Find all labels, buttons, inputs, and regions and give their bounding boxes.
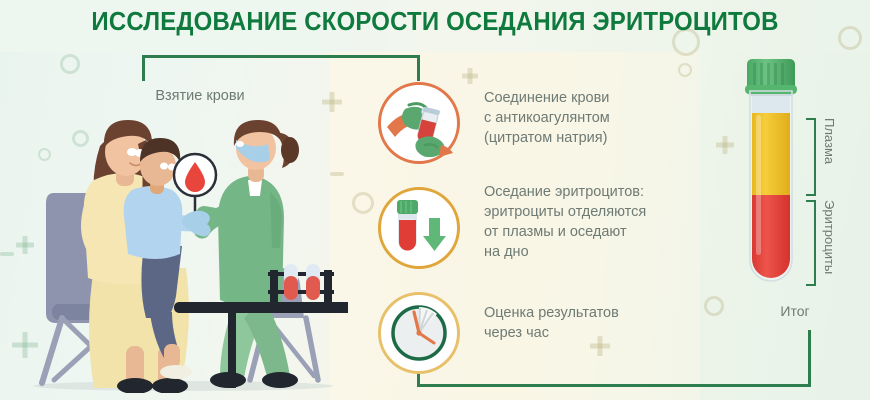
page-title: ИССЛЕДОВАНИЕ СКОРОСТИ ОСЕДАНИЯ ЭРИТРОЦИТ… bbox=[26, 8, 844, 37]
step-1-line-1: Соединение крови bbox=[484, 88, 674, 108]
plasma-label: Плазма bbox=[822, 118, 837, 198]
erythrocyte-label: Эритроциты bbox=[822, 200, 837, 288]
hands-with-test-tube-icon bbox=[385, 89, 453, 157]
step-2-line-4: на дно bbox=[484, 242, 684, 262]
result-test-tube bbox=[740, 55, 802, 295]
step-2-line-1: Оседание эритроцитов: bbox=[484, 182, 684, 202]
result-total-label: Итог bbox=[740, 303, 850, 319]
connector-top-horizontal bbox=[142, 55, 420, 58]
connector-bottom-horizontal bbox=[417, 384, 811, 387]
connector-bottom-right-rise bbox=[808, 330, 811, 386]
connector-top-left-drop bbox=[142, 55, 145, 81]
step-2-text: Оседание эритроцитов: эритроциты отделяю… bbox=[484, 182, 684, 262]
step-3-text: Оценка результатов через час bbox=[484, 303, 684, 343]
step-3-line-2: через час bbox=[484, 323, 684, 343]
erythrocyte-bracket bbox=[806, 200, 816, 286]
step-2-line-3: от плазмы и оседают bbox=[484, 222, 684, 242]
step-1-icon-circle[interactable] bbox=[378, 82, 460, 164]
infographic-canvas: ИССЛЕДОВАНИЕ СКОРОСТИ ОСЕДАНИЯ ЭРИТРОЦИТ… bbox=[0, 0, 870, 400]
step-2-line-2: эритроциты отделяются bbox=[484, 202, 684, 222]
plasma-bracket bbox=[806, 118, 816, 196]
blood-collection-scene-illustration bbox=[18, 118, 348, 393]
step-1-line-2: с антикоагулянтом bbox=[484, 108, 674, 128]
step-2-icon-circle[interactable] bbox=[378, 187, 460, 269]
clock-one-hour-icon bbox=[387, 301, 451, 365]
test-tube-down-arrow-icon bbox=[387, 196, 451, 260]
scene-label-blood-collection: Взятие крови bbox=[100, 88, 300, 104]
step-3-icon-circle[interactable] bbox=[378, 292, 460, 374]
result-test-tube-graphic bbox=[740, 55, 802, 295]
step-3-line-1: Оценка результатов bbox=[484, 303, 684, 323]
step-1-line-3: (цитратом натрия) bbox=[484, 128, 674, 148]
step-1-text: Соединение крови с антикоагулянтом (цитр… bbox=[484, 88, 674, 148]
connector-top-right-drop bbox=[417, 55, 420, 81]
